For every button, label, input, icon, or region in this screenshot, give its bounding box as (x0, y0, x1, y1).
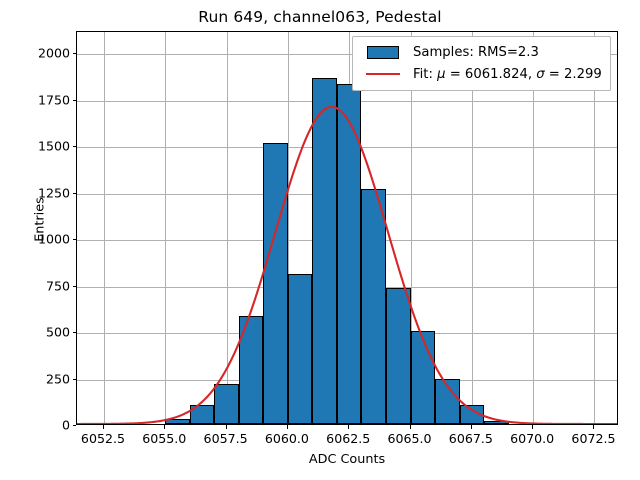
legend-label-fit: Fit: μ = 6061.824, σ = 2.299 (413, 67, 602, 82)
y-tick-label: 1750 (38, 92, 70, 107)
y-tick-mark (73, 53, 77, 54)
y-tick-mark (73, 100, 77, 101)
y-axis-title: Entries (33, 160, 48, 280)
x-tick-mark (164, 425, 165, 429)
y-tick-mark (73, 286, 77, 287)
x-tick-mark (471, 425, 472, 429)
sigma-symbol: σ (536, 67, 544, 82)
y-tick-mark (73, 146, 77, 147)
x-tick-label: 6070.0 (510, 431, 554, 446)
legend-item-samples[interactable]: Samples: RMS=2.3 (361, 42, 602, 62)
x-tick-mark (103, 425, 104, 429)
x-tick-mark (226, 425, 227, 429)
x-tick-label: 6057.5 (204, 431, 248, 446)
y-tick-label: 2000 (38, 46, 70, 61)
legend-fit-prefix: Fit: (413, 67, 437, 82)
x-tick-label: 6055.0 (142, 431, 186, 446)
chart-legend[interactable]: Samples: RMS=2.3 Fit: μ = 6061.824, σ = … (352, 36, 611, 91)
x-tick-label: 6062.5 (326, 431, 370, 446)
y-tick-label: 500 (46, 325, 70, 340)
legend-label-samples: Samples: RMS=2.3 (413, 45, 539, 60)
mu-value: = 6061.824, (446, 67, 537, 82)
y-tick-label: 250 (46, 371, 70, 386)
x-tick-mark (532, 425, 533, 429)
x-tick-mark (593, 425, 594, 429)
y-tick-mark (73, 239, 77, 240)
y-tick-mark (73, 425, 77, 426)
legend-patch-icon (361, 46, 405, 59)
x-tick-mark (287, 425, 288, 429)
x-tick-label: 6067.5 (449, 431, 493, 446)
mu-symbol: μ (437, 67, 445, 82)
legend-line-icon (361, 73, 405, 75)
x-tick-label: 6060.0 (265, 431, 309, 446)
legend-item-fit[interactable]: Fit: μ = 6061.824, σ = 2.299 (361, 64, 602, 84)
y-tick-mark (73, 193, 77, 194)
chart-title: Run 649, channel063, Pedestal (0, 8, 640, 26)
x-tick-label: 6052.5 (81, 431, 125, 446)
x-tick-label: 6072.5 (571, 431, 615, 446)
x-tick-mark (348, 425, 349, 429)
y-tick-label: 750 (46, 278, 70, 293)
y-tick-label: 1500 (38, 139, 70, 154)
y-tick-label: 0 (62, 418, 70, 433)
y-tick-mark (73, 332, 77, 333)
x-tick-mark (410, 425, 411, 429)
x-tick-label: 6065.0 (387, 431, 431, 446)
figure-canvas: Run 649, channel063, Pedestal 6052.56055… (0, 0, 640, 480)
sigma-value: = 2.299 (545, 67, 602, 82)
y-tick-mark (73, 379, 77, 380)
x-axis-title: ADC Counts (76, 452, 618, 467)
